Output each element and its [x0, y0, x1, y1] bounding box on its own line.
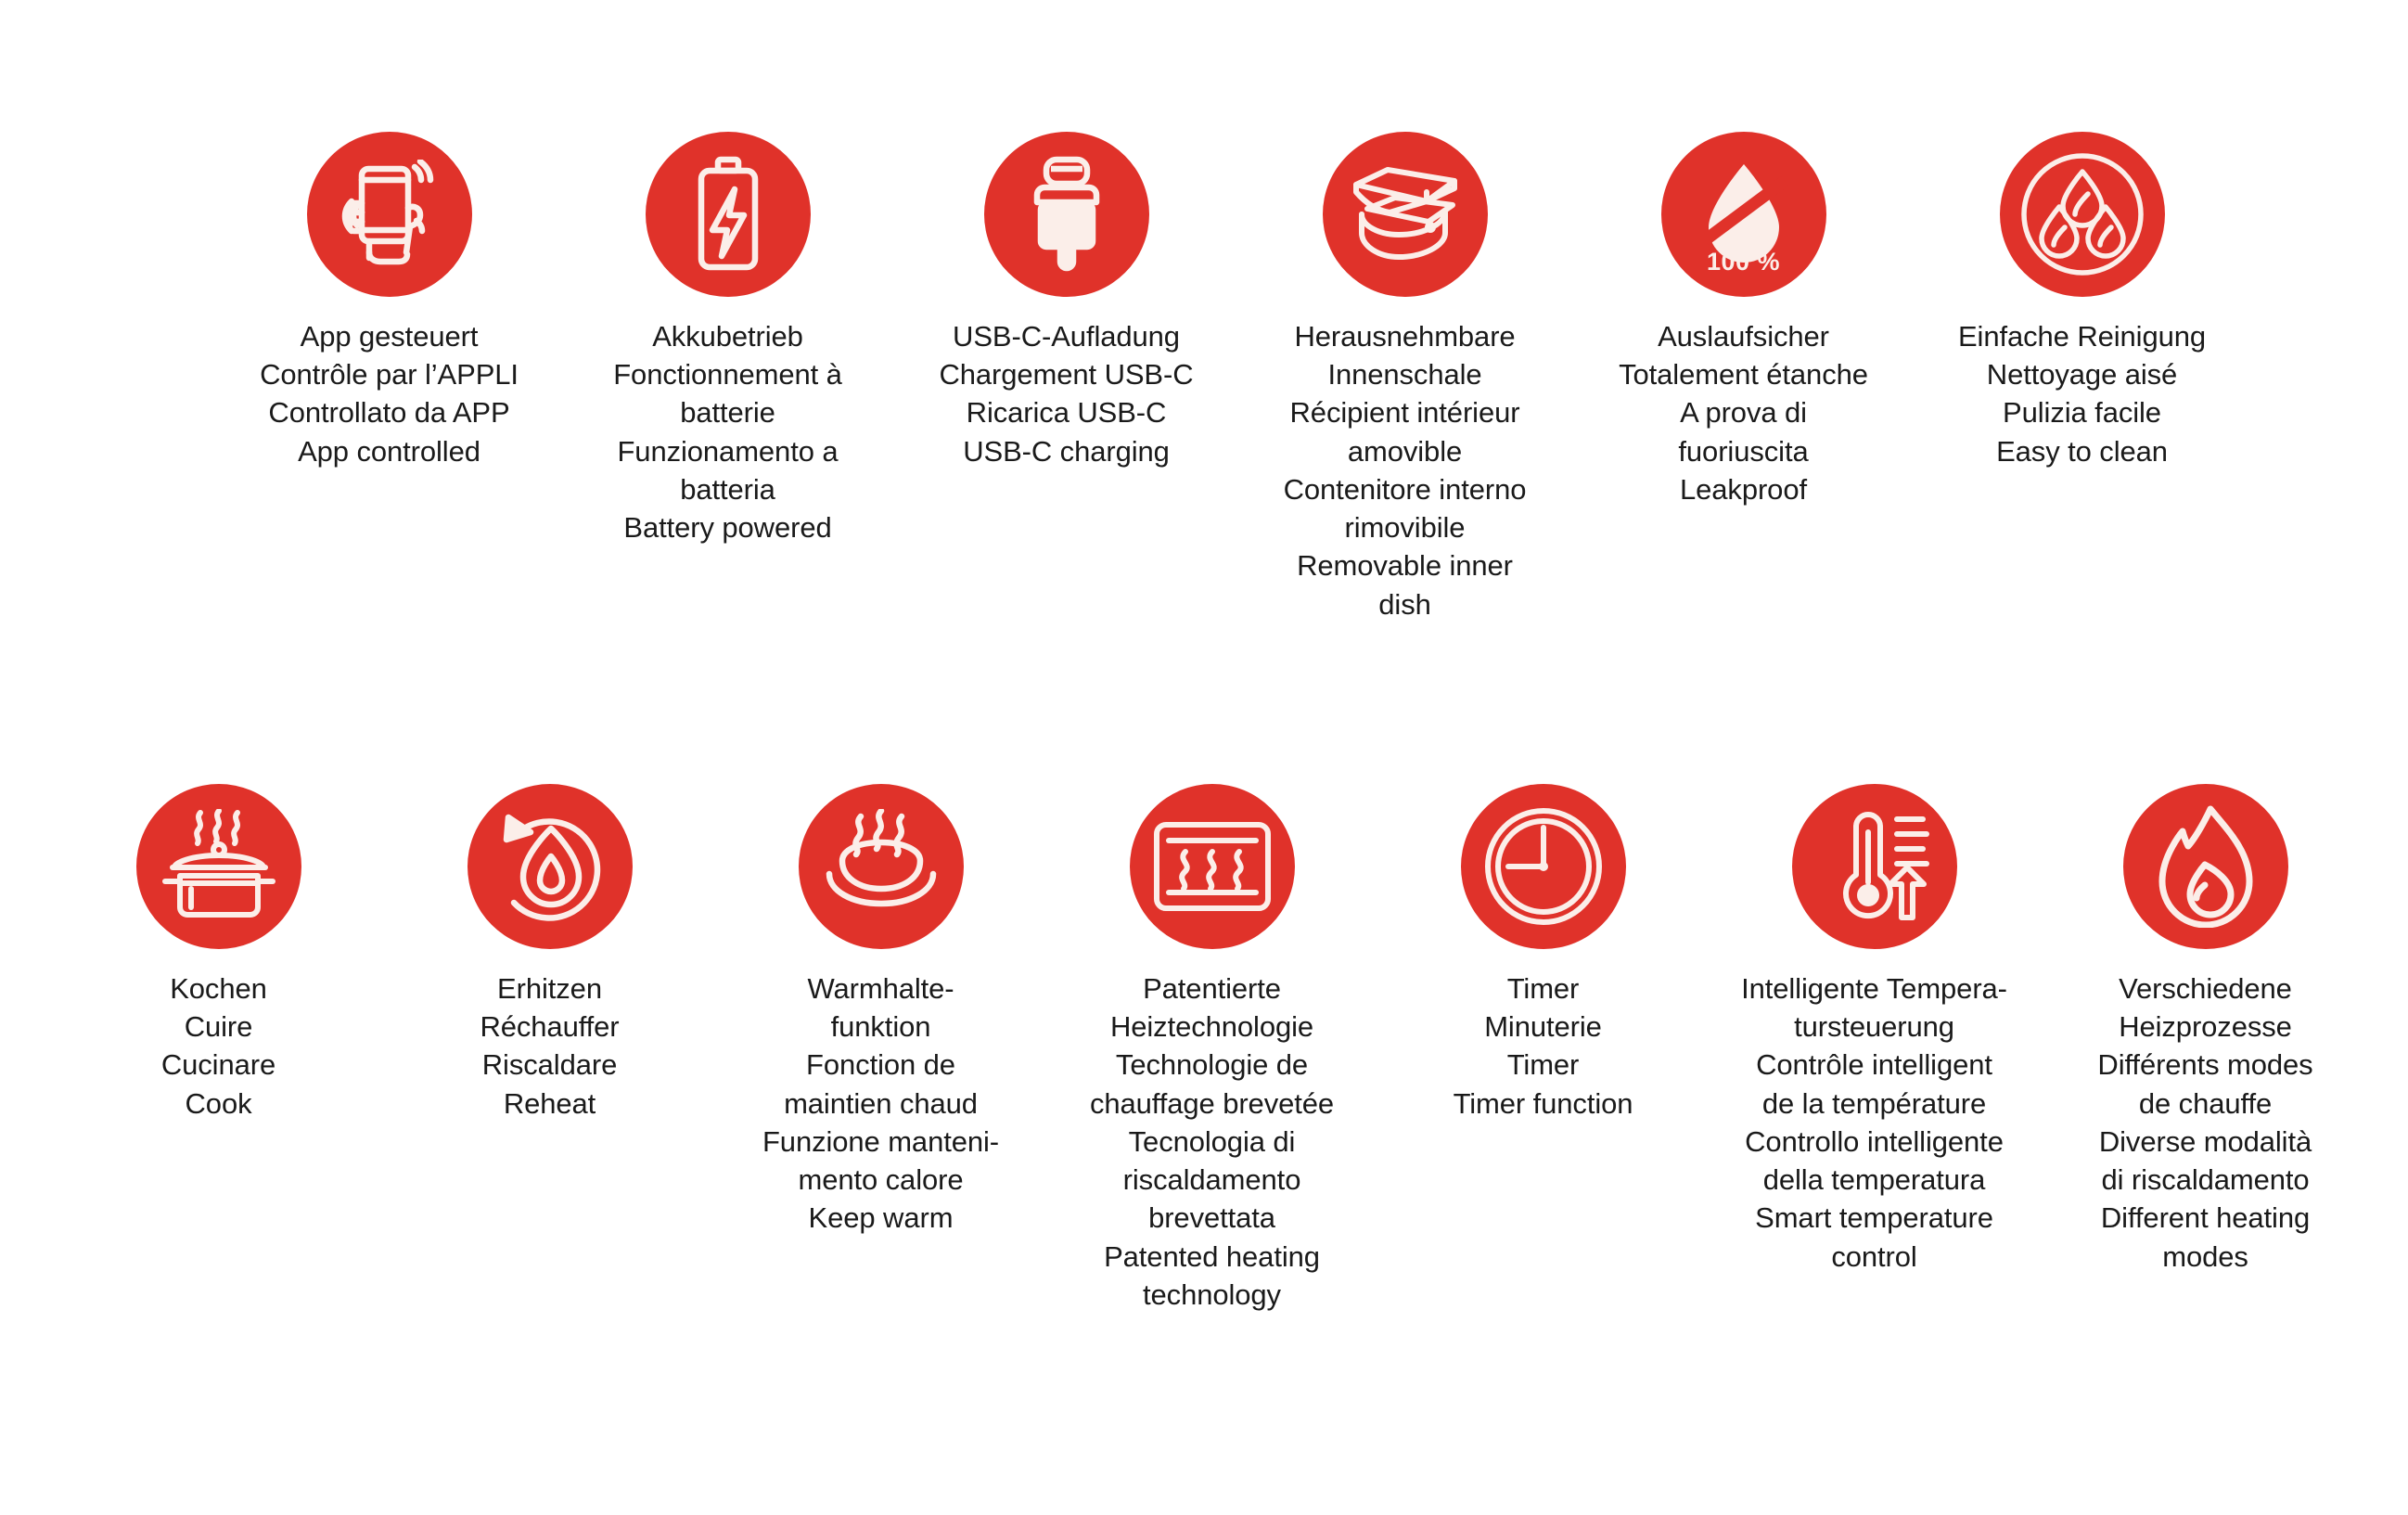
caption-line: Contrôle intelligent [1709, 1046, 2040, 1084]
feature-caption: TimerMinuterieTimerTimer function [1377, 969, 1709, 1123]
feature-icon-sheet: App gesteuertContrôle par l’APPLIControl… [0, 0, 2408, 1515]
feature-caption: KochenCuireCucinareCook [53, 969, 384, 1123]
caption-line: technology [1046, 1276, 1377, 1314]
caption-line: Battery powered [558, 508, 897, 546]
feature-caption: USB-C-AufladungChargement USB-CRicarica … [897, 317, 1236, 470]
caption-line: Warmhalte- [715, 969, 1046, 1008]
caption-line: Patentierte [1046, 969, 1377, 1008]
feature-item: App gesteuertContrôle par l’APPLIControl… [220, 132, 558, 623]
caption-line: Tecnologia di [1046, 1123, 1377, 1161]
feature-caption: PatentierteHeiztechnologieTechnologie de… [1046, 969, 1377, 1314]
feature-item: AkkubetriebFonctionnement àbatterieFunzi… [558, 132, 897, 623]
feature-caption: App gesteuertContrôle par l’APPLIControl… [220, 317, 558, 470]
caption-line: rimovibile [1236, 508, 1574, 546]
caption-line: Einfache Reinigung [1913, 317, 2251, 355]
feature-item: TimerMinuterieTimerTimer function [1377, 784, 1709, 1314]
caption-line: Diverse modalità [2040, 1123, 2371, 1161]
caption-line: Innenschale [1236, 355, 1574, 393]
caption-line: Verschiedene [2040, 969, 2371, 1008]
caption-line: Removable inner [1236, 546, 1574, 584]
feature-item: USB-C-AufladungChargement USB-CRicarica … [897, 132, 1236, 623]
caption-line: Ricarica USB-C [897, 393, 1236, 431]
caption-line: batteria [558, 470, 897, 508]
caption-line: batterie [558, 393, 897, 431]
caption-line: Smart temperature [1709, 1199, 2040, 1237]
caption-line: Patented heating [1046, 1238, 1377, 1276]
caption-line: Auslaufsicher [1574, 317, 1913, 355]
caption-line: Technologie de [1046, 1046, 1377, 1084]
no-leak-droplet-icon: 100 % [1661, 132, 1826, 297]
caption-line: Timer function [1377, 1085, 1709, 1123]
caption-line: amovible [1236, 432, 1574, 470]
battery-bolt-icon [646, 132, 811, 297]
feature-caption: HerausnehmbareInnenschaleRécipient intér… [1236, 317, 1574, 623]
clock-timer-icon [1461, 784, 1626, 949]
caption-line: maintien chaud [715, 1085, 1046, 1123]
caption-line: Fonction de [715, 1046, 1046, 1084]
caption-line: modes [2040, 1238, 2371, 1276]
caption-line: chauffage brevetée [1046, 1085, 1377, 1123]
flame-icon [2123, 784, 2288, 949]
feature-caption: Intelligente Tempera-tursteuerungContrôl… [1709, 969, 2040, 1276]
feature-item: Intelligente Tempera-tursteuerungContrôl… [1709, 784, 2040, 1314]
feature-caption: Einfache ReinigungNettoyage aiséPulizia … [1913, 317, 2251, 470]
feature-item: Einfache ReinigungNettoyage aiséPulizia … [1913, 132, 2251, 623]
caption-line: USB-C-Aufladung [897, 317, 1236, 355]
cooking-pot-steam-icon [136, 784, 301, 949]
stacked-containers-icon [1323, 132, 1488, 297]
caption-line: funktion [715, 1008, 1046, 1046]
caption-line: App gesteuert [220, 317, 558, 355]
caption-line: Cucinare [53, 1046, 384, 1084]
leakproof-percent-badge: 100 % [1661, 248, 1826, 276]
caption-line: tursteuerung [1709, 1008, 2040, 1046]
caption-line: Controllo intelligente [1709, 1123, 2040, 1161]
caption-line: Fonctionnement à [558, 355, 897, 393]
feature-caption: VerschiedeneHeizprozesseDifférents modes… [2040, 969, 2371, 1276]
caption-line: riscaldamento [1046, 1161, 1377, 1199]
caption-line: Keep warm [715, 1199, 1046, 1237]
caption-line: Reheat [384, 1085, 715, 1123]
caption-line: Récipient intérieur [1236, 393, 1574, 431]
caption-line: fuoriuscita [1574, 432, 1913, 470]
feature-item: Warmhalte-funktionFonction demaintien ch… [715, 784, 1046, 1314]
thermometer-scale-arrow-icon [1792, 784, 1957, 949]
caption-line: Funzionamento a [558, 432, 897, 470]
caption-line: Intelligente Tempera- [1709, 969, 2040, 1008]
caption-line: dish [1236, 585, 1574, 623]
caption-line: Cook [53, 1085, 384, 1123]
caption-line: mento calore [715, 1161, 1046, 1199]
caption-line: A prova di [1574, 393, 1913, 431]
caption-line: Different heating [2040, 1199, 2371, 1237]
feature-caption: AuslaufsicherTotalement étancheA prova d… [1574, 317, 1913, 508]
caption-line: Heizprozesse [2040, 1008, 2371, 1046]
feature-item: 100 %AuslaufsicherTotalement étancheA pr… [1574, 132, 1913, 623]
caption-line: Herausnehmbare [1236, 317, 1574, 355]
caption-line: brevettata [1046, 1199, 1377, 1237]
caption-line: Heiztechnologie [1046, 1008, 1377, 1046]
caption-line: Riscaldare [384, 1046, 715, 1084]
caption-line: Différents modes [2040, 1046, 2371, 1084]
caption-line: Totalement étanche [1574, 355, 1913, 393]
caption-line: App controlled [220, 432, 558, 470]
feature-caption: AkkubetriebFonctionnement àbatterieFunzi… [558, 317, 897, 546]
caption-line: Contrôle par l’APPLI [220, 355, 558, 393]
caption-line: Leakproof [1574, 470, 1913, 508]
caption-line: Timer [1377, 969, 1709, 1008]
three-droplets-ring-icon [2000, 132, 2165, 297]
feature-item: HerausnehmbareInnenschaleRécipient intér… [1236, 132, 1574, 623]
caption-line: de chauffe [2040, 1085, 2371, 1123]
caption-line: Réchauffer [384, 1008, 715, 1046]
usb-c-plug-icon [984, 132, 1149, 297]
caption-line: della temperatura [1709, 1161, 2040, 1199]
caption-line: di riscaldamento [2040, 1161, 2371, 1199]
caption-line: control [1709, 1238, 2040, 1276]
feature-row-2: KochenCuireCucinareCook ErhitzenRéchauff… [53, 784, 2372, 1314]
caption-line: de la température [1709, 1085, 2040, 1123]
feature-row-1: App gesteuertContrôle par l’APPLIControl… [220, 132, 2251, 623]
caption-line: Minuterie [1377, 1008, 1709, 1046]
caption-line: Pulizia facile [1913, 393, 2251, 431]
caption-line: Chargement USB-C [897, 355, 1236, 393]
caption-line: Controllato da APP [220, 393, 558, 431]
feature-item: ErhitzenRéchaufferRiscaldareReheat [384, 784, 715, 1314]
caption-line: Easy to clean [1913, 432, 2251, 470]
heating-plate-icon [1130, 784, 1295, 949]
caption-line: Akkubetrieb [558, 317, 897, 355]
feature-caption: ErhitzenRéchaufferRiscaldareReheat [384, 969, 715, 1123]
caption-line: Erhitzen [384, 969, 715, 1008]
caption-line: USB-C charging [897, 432, 1236, 470]
feature-item: VerschiedeneHeizprozesseDifférents modes… [2040, 784, 2371, 1314]
feature-item: KochenCuireCucinareCook [53, 784, 384, 1314]
feature-caption: Warmhalte-funktionFonction demaintien ch… [715, 969, 1046, 1238]
caption-line: Contenitore interno [1236, 470, 1574, 508]
caption-line: Nettoyage aisé [1913, 355, 2251, 393]
feature-item: PatentierteHeiztechnologieTechnologie de… [1046, 784, 1377, 1314]
caption-line: Cuire [53, 1008, 384, 1046]
caption-line: Funzione manteni- [715, 1123, 1046, 1161]
caption-line: Kochen [53, 969, 384, 1008]
keep-warm-bowl-icon [799, 784, 964, 949]
caption-line: Timer [1377, 1046, 1709, 1084]
flame-reheat-arrow-icon [468, 784, 633, 949]
phone-app-hand-icon [307, 132, 472, 297]
